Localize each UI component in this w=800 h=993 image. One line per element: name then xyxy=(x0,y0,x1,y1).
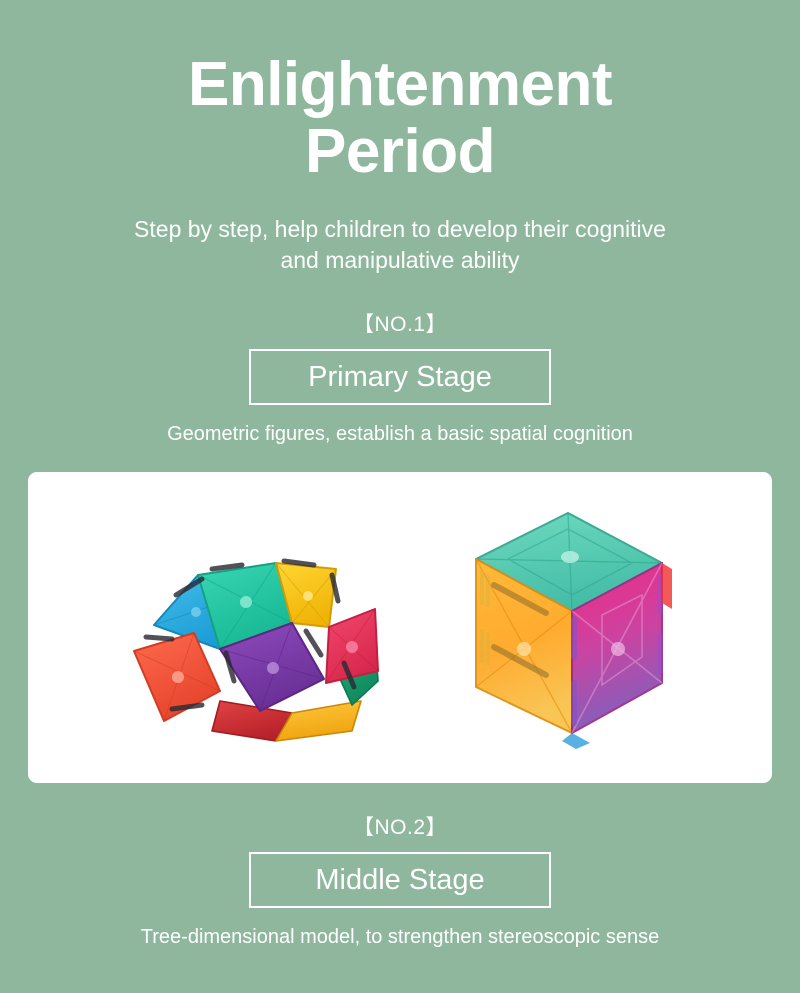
stage-description-2: Tree-dimensional model, to strengthen st… xyxy=(141,925,659,949)
page-subtitle: Step by step, help children to develop t… xyxy=(130,186,670,276)
stage-section-middle: 【NO.2】 Middle Stage Tree-dimensional mod… xyxy=(0,783,800,949)
stage-name-label-1: Primary Stage xyxy=(308,363,492,392)
magnetic-tile-ball-figure xyxy=(116,505,394,757)
magnetic-tile-cube-figure xyxy=(436,497,690,761)
stage-number-label-2: 【NO.2】 xyxy=(353,817,447,838)
magnetic-tile-cube-icon xyxy=(436,497,690,761)
stage-number-label-1: 【NO.1】 xyxy=(353,314,447,335)
stage-name-box-1[interactable]: Primary Stage xyxy=(249,349,551,405)
stage-name-label-2: Middle Stage xyxy=(315,866,484,895)
magnetic-tile-ball-icon xyxy=(116,505,394,757)
stage-name-box-2[interactable]: Middle Stage xyxy=(249,852,551,908)
stage-description-1: Geometric figures, establish a basic spa… xyxy=(167,422,633,446)
stage-section-primary: 【NO.1】 Primary Stage Geometric figures, … xyxy=(0,276,800,446)
promo-page: Enlightenment Period Step by step, help … xyxy=(0,0,800,993)
page-title: Enlightenment Period xyxy=(120,0,680,186)
product-image-panel xyxy=(28,472,772,783)
